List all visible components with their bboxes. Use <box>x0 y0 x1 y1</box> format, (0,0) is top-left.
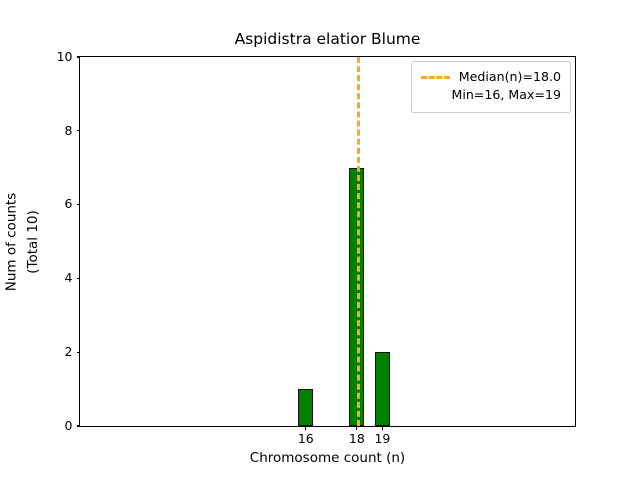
y-tick-label: 2 <box>65 346 77 359</box>
y-tick-label: 10 <box>57 51 77 64</box>
legend-entry-median: Median(n)=18.0 <box>421 68 561 86</box>
bar-16 <box>298 389 313 426</box>
x-tick-mark <box>305 426 306 430</box>
plot-area: 0 2 4 6 8 10 16 <box>79 56 576 427</box>
y-axis-label: Num of counts <box>0 56 22 427</box>
y-tick-mark <box>77 425 81 426</box>
x-tick-19: 19 <box>374 426 390 445</box>
x-axis-label: Chromosome count (n) <box>79 450 576 466</box>
y-axis-total-label-text: (Total 10) <box>25 210 41 274</box>
y-axis-total-label: (Total 10) <box>22 56 44 427</box>
chart-title: Aspidistra elatior Blume <box>79 30 576 48</box>
y-tick-label: 4 <box>65 272 77 285</box>
bar-19 <box>375 352 390 426</box>
y-tick-mark <box>77 56 81 57</box>
median-line <box>357 57 360 426</box>
x-tick-18: 18 <box>349 426 365 445</box>
x-tick-mark <box>382 426 383 430</box>
x-tick-mark <box>356 426 357 430</box>
y-tick-label: 0 <box>65 420 77 433</box>
x-tick-label: 19 <box>374 433 390 446</box>
y-tick-mark <box>77 204 81 205</box>
chart-figure: Aspidistra elatior Blume Num of counts (… <box>0 0 640 480</box>
legend-subtext: Min=16, Max=19 <box>421 86 561 104</box>
x-tick-label: 16 <box>298 433 314 446</box>
y-tick-mark <box>77 278 81 279</box>
y-axis-label-text: Num of counts <box>3 192 19 291</box>
legend-entry-label: Median(n)=18.0 <box>459 68 561 86</box>
y-tick-mark <box>77 352 81 353</box>
y-tick-label: 8 <box>65 125 77 138</box>
legend: Median(n)=18.0 Min=16, Max=19 <box>411 61 571 113</box>
y-tick-mark <box>77 130 81 131</box>
dashed-line-icon <box>421 76 450 79</box>
x-tick-16: 16 <box>298 426 314 445</box>
y-tick-label: 6 <box>65 198 77 211</box>
x-tick-label: 18 <box>349 433 365 446</box>
